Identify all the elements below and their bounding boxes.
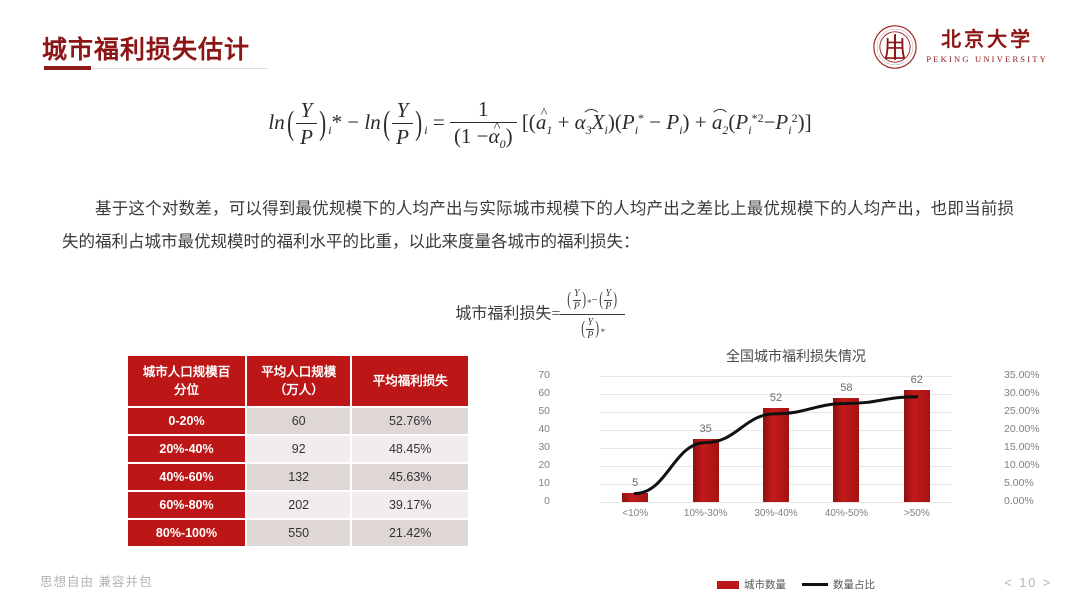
cell-percentile: 40%-60% xyxy=(128,462,247,490)
eq-numerator-one: 1 xyxy=(450,96,517,123)
eq-ln-1: ln xyxy=(268,110,284,134)
table-header-row: 城市人口规模百 分位 平均人口规模 （万人） 平均福利损失 xyxy=(128,356,468,406)
eq-denominator: (1 −^α0) xyxy=(450,123,517,153)
eq-p2-star-sub: i xyxy=(748,123,751,137)
eq-denom-close: ) xyxy=(506,124,513,148)
logo-english-name: PEKING UNIVERSITY xyxy=(926,55,1048,64)
cell-avg-loss: 52.76% xyxy=(352,406,468,434)
eq-p-1: P xyxy=(296,124,317,151)
eq-ln-2: ln xyxy=(364,110,380,134)
legend-bar-swatch xyxy=(717,581,739,589)
welfare-loss-table-container: 城市人口规模百 分位 平均人口规模 （万人） 平均福利损失 0-20% 60 5… xyxy=(128,356,468,546)
table-header-percentile: 城市人口规模百 分位 xyxy=(128,356,247,406)
chart-y-tick-label: 10 xyxy=(520,477,550,489)
welfare-loss-chart: 全国城市福利损失情况 0102030405060700.00%5.00%10.0… xyxy=(556,344,1036,594)
chart-legend: 城市数量 数量占比 xyxy=(556,577,1036,592)
chart-line-series xyxy=(600,376,952,522)
logo-chinese-name: 北京大学 xyxy=(941,30,1033,50)
chart-y2-tick-label: 5.00% xyxy=(1004,477,1064,489)
chart-y-tick-label: 70 xyxy=(520,369,550,381)
wl-den-star: * xyxy=(601,327,606,337)
pku-seal-icon xyxy=(872,24,918,70)
cell-avg-pop: 132 xyxy=(247,462,352,490)
legend-bar-label: 城市数量 xyxy=(744,577,786,592)
welfare-loss-table: 城市人口规模百 分位 平均人口规模 （万人） 平均福利损失 0-20% 60 5… xyxy=(128,356,468,546)
footer-motto: 思想自由 兼容并包 xyxy=(40,571,152,590)
wl-num-paren-open-1: ( xyxy=(568,292,572,308)
eq-star-1: * xyxy=(332,110,343,134)
eq-p-star: P xyxy=(622,110,635,134)
page-title: 城市福利损失估计 xyxy=(42,30,250,66)
cell-avg-pop: 202 xyxy=(247,490,352,518)
eq-pi2-sub: i xyxy=(788,123,791,137)
eq-paren-close-3: ) xyxy=(683,110,690,134)
eq-fraction-yp-1: YP xyxy=(296,97,317,152)
welfare-loss-fraction: (YP)*−(YP) (YP)* xyxy=(560,288,624,342)
welfare-loss-definition-equation: 城市福利损失= (YP)*−(YP) (YP)* xyxy=(0,288,1080,342)
wl-num-p-2: P xyxy=(604,301,612,313)
title-rule-extension xyxy=(91,68,268,70)
wl-den-y: Y xyxy=(586,317,594,330)
legend-item-bar: 城市数量 xyxy=(717,577,786,592)
cell-percentile: 0-20% xyxy=(128,406,247,434)
title-underline-rule xyxy=(44,66,268,70)
eq-paren-open-2: ( xyxy=(383,109,390,140)
eq-minus: − xyxy=(347,110,359,134)
eq-paren-close-1: ) xyxy=(319,109,326,140)
eq-a1-sub: 1 xyxy=(546,123,552,137)
table-header-avg-pop: 平均人口规模 （万人） xyxy=(247,356,352,406)
eq-alpha0-sub: 0 xyxy=(500,137,506,151)
chart-y-tick-label: 30 xyxy=(520,441,550,453)
title-rule-accent xyxy=(44,66,91,70)
cell-avg-pop: 550 xyxy=(247,518,352,546)
table-row: 40%-60% 132 45.63% xyxy=(128,462,468,490)
eq-a1-hatted: ^a1 xyxy=(536,110,553,138)
table-header-avg-pop-line1: 平均人口规模 xyxy=(249,363,348,381)
peking-university-logo: 北京大学 PEKING UNIVERSITY xyxy=(872,20,1048,74)
eq-hat-a1: ^ xyxy=(541,106,548,122)
chart-y2-tick-label: 30.00% xyxy=(1004,387,1064,399)
chart-title: 全国城市福利损失情况 xyxy=(556,346,1036,366)
eq-p-star-sup: * xyxy=(638,111,644,125)
welfare-loss-label: 城市福利损失 xyxy=(455,305,551,322)
eq-a2-hatted: ⌒a2 xyxy=(712,110,729,138)
chart-y-tick-label: 60 xyxy=(520,387,550,399)
eq-bracket-open: [( xyxy=(522,110,536,134)
cell-avg-loss: 39.17% xyxy=(352,490,468,518)
eq-hat-alpha0: ^ xyxy=(494,119,501,137)
chart-y2-tick-label: 0.00% xyxy=(1004,495,1064,507)
eq-equals: = xyxy=(433,110,445,134)
eq-p-2: P xyxy=(392,124,413,151)
cell-avg-loss: 21.42% xyxy=(352,518,468,546)
eq-x-sub: i xyxy=(605,123,608,137)
chart-y-tick-label: 50 xyxy=(520,405,550,417)
table-header-percentile-line2: 分位 xyxy=(130,381,243,399)
eq-denom-open: (1 − xyxy=(454,124,489,148)
cell-percentile: 20%-40% xyxy=(128,434,247,462)
wl-num-y-1: Y xyxy=(573,288,581,301)
table-header-avg-pop-line2: （万人） xyxy=(249,381,348,399)
eq-minus-2: − xyxy=(649,110,661,134)
wl-num-paren-close-2: ) xyxy=(614,292,618,308)
eq-y-2: Y xyxy=(392,97,413,124)
cell-avg-pop: 92 xyxy=(247,434,352,462)
eq-p2-star: P xyxy=(735,110,748,134)
cell-avg-loss: 45.63% xyxy=(352,462,468,490)
wl-den-p: P xyxy=(586,330,594,342)
main-equation: ln(YP)i* − ln(YP)i = 1 (1 −^α0) [(^a1 + … xyxy=(0,96,1080,153)
wl-den-yp: YP xyxy=(586,317,594,342)
legend-line-label: 数量占比 xyxy=(833,577,875,592)
chart-y-tick-label: 0 xyxy=(520,495,550,507)
table-row: 60%-80% 202 39.17% xyxy=(128,490,468,518)
legend-item-line: 数量占比 xyxy=(802,577,875,592)
cell-avg-loss: 48.45% xyxy=(352,434,468,462)
eq-a3x-hatted: ⌒α3Xi xyxy=(575,110,608,138)
cell-percentile: 60%-80% xyxy=(128,490,247,518)
eq-paren-open-1: ( xyxy=(287,109,294,140)
chart-y2-tick-label: 10.00% xyxy=(1004,459,1064,471)
wl-num-p-1: P xyxy=(573,301,581,313)
chart-y2-tick-label: 35.00% xyxy=(1004,369,1064,381)
chart-y2-tick-label: 15.00% xyxy=(1004,441,1064,453)
eq-fraction-yp-2: YP xyxy=(392,97,413,152)
wl-num-yp-2: YP xyxy=(604,288,612,313)
eq-mid-parens: )( xyxy=(608,110,622,134)
wl-num-paren-open-2: ( xyxy=(599,292,603,308)
chart-y-tick-label: 40 xyxy=(520,423,550,435)
eq-hat-a3: ⌒ xyxy=(584,106,598,126)
table-row: 80%-100% 550 21.42% xyxy=(128,518,468,546)
eq-hat-a2: ⌒ xyxy=(713,106,727,126)
body-paragraph: 基于这个对数差，可以得到最优规模下的人均产出与实际城市规模下的人均产出之差比上最… xyxy=(62,192,1014,258)
table-body: 0-20% 60 52.76% 20%-40% 92 48.45% 40%-60… xyxy=(128,406,468,546)
wl-den-paren-close: ) xyxy=(596,321,600,337)
eq-subscript-i-2: i xyxy=(424,123,427,137)
eq-pi: P xyxy=(666,110,679,134)
table-row: 0-20% 60 52.76% xyxy=(128,406,468,434)
logo-wordmark: 北京大学 PEKING UNIVERSITY xyxy=(926,30,1048,64)
wl-num-minus: − xyxy=(592,294,598,306)
eq-p-star-sub: i xyxy=(635,123,638,137)
eq-minus-3: − xyxy=(764,110,776,134)
chart-y2-tick-label: 20.00% xyxy=(1004,423,1064,435)
cell-percentile: 80%-100% xyxy=(128,518,247,546)
eq-fraction-one-over-alpha: 1 (1 −^α0) xyxy=(450,96,517,153)
wl-den-paren-open: ( xyxy=(581,321,585,337)
chart-y2-tick-label: 25.00% xyxy=(1004,405,1064,417)
eq-alpha0-hatted: ^α0 xyxy=(489,123,506,153)
eq-plus-1: + xyxy=(558,110,570,134)
eq-pi2: P xyxy=(775,110,788,134)
welfare-loss-numerator: (YP)*−(YP) xyxy=(560,288,624,315)
table-row: 20%-40% 92 48.45% xyxy=(128,434,468,462)
wl-num-y-2: Y xyxy=(604,288,612,301)
chart-y-tick-label: 20 xyxy=(520,459,550,471)
legend-line-swatch xyxy=(802,583,828,586)
table-header-avg-loss-line1: 平均福利损失 xyxy=(354,372,466,390)
cell-avg-pop: 60 xyxy=(247,406,352,434)
page-indicator[interactable]: < 10 > xyxy=(1005,576,1052,590)
table-header-percentile-line1: 城市人口规模百 xyxy=(130,363,243,381)
wl-num-paren-close-1: ) xyxy=(582,292,586,308)
eq-y-1: Y xyxy=(296,97,317,124)
chart-plot-area: 0102030405060700.00%5.00%10.00%15.00%20.… xyxy=(600,376,952,502)
eq-plus-2: + xyxy=(695,110,707,134)
eq-paren-close-2: ) xyxy=(415,109,422,140)
eq-p2-star-sup: *2 xyxy=(752,111,764,125)
table-header-avg-loss: 平均福利损失 xyxy=(352,356,468,406)
eq-bracket-close: )] xyxy=(798,110,812,134)
welfare-loss-denominator: (YP)* xyxy=(560,315,624,342)
welfare-loss-equals: = xyxy=(551,305,560,322)
wl-num-yp-1: YP xyxy=(573,288,581,313)
